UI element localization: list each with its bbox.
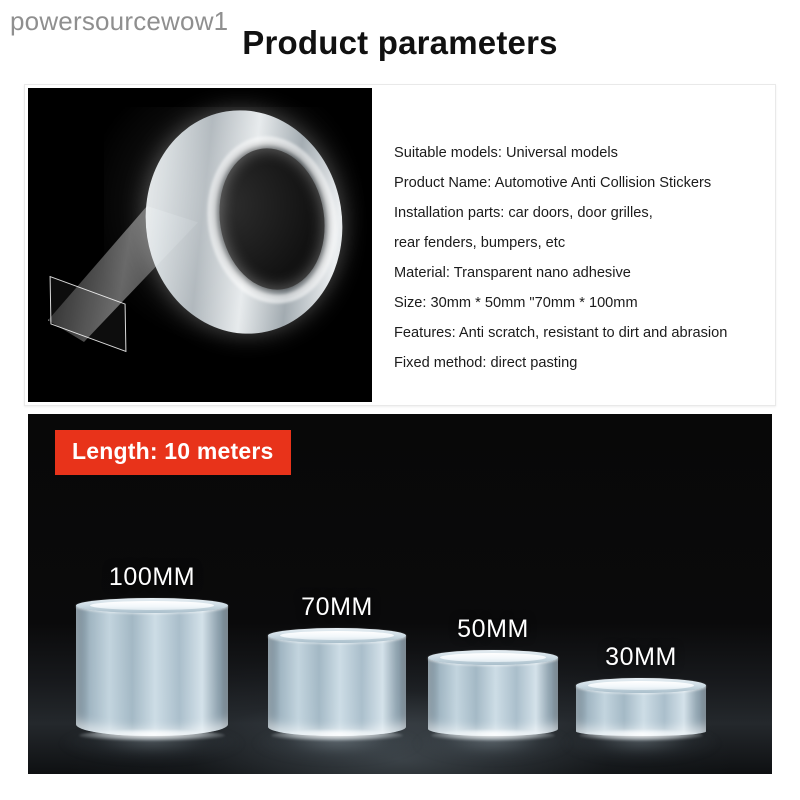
- product-parameters-panel: Suitable models: Universal models Produc…: [24, 84, 776, 406]
- product-detail-page: powersourcewow1 Product parameters Suita…: [0, 0, 800, 800]
- spec-line-installation-parts: Installation parts: car doors, door gril…: [394, 198, 766, 228]
- spec-line-fixed-method: Fixed method: direct pasting: [394, 348, 766, 378]
- tape-roll-illustration: [146, 110, 358, 340]
- roll-top-ellipse: [268, 628, 406, 643]
- roll-top-inner: [440, 653, 547, 662]
- roll-top-ellipse: [76, 598, 228, 613]
- roll-top-ellipse: [428, 650, 558, 665]
- roll-size-label-30mm: 30MM: [605, 643, 677, 672]
- roll-base-highlight: [79, 730, 225, 741]
- roll-body: [268, 635, 406, 736]
- roll-top-inner: [280, 631, 393, 640]
- spec-line-product-name: Product Name: Automotive Anti Collision …: [394, 168, 766, 198]
- roll-size-50mm: 50MM: [428, 650, 558, 736]
- roll-size-30mm: 30MM: [576, 678, 706, 736]
- spec-line-size: Size: 30mm * 50mm "70mm * 100mm: [394, 288, 766, 318]
- roll-body: [76, 605, 228, 736]
- spec-line-features: Features: Anti scratch, resistant to dir…: [394, 318, 766, 348]
- spec-list: Suitable models: Universal models Produc…: [372, 88, 772, 402]
- roll-cylinder: [76, 598, 228, 736]
- spec-line-installation-parts-cont: rear fenders, bumpers, etc: [394, 228, 766, 258]
- spec-line-material: Material: Transparent nano adhesive: [394, 258, 766, 288]
- roll-cylinder: [268, 628, 406, 736]
- roll-base-highlight: [271, 730, 404, 741]
- roll-body: [428, 657, 558, 736]
- roll-base-highlight: [579, 730, 704, 741]
- roll-size-label-50mm: 50MM: [457, 615, 529, 644]
- roll-cylinder: [576, 678, 706, 736]
- roll-size-100mm: 100MM: [76, 598, 228, 736]
- roll-size-70mm: 70MM: [268, 628, 406, 736]
- roll-base-highlight: [431, 730, 556, 741]
- seller-watermark: powersourcewow1: [10, 6, 228, 37]
- roll-top-ellipse: [576, 678, 706, 693]
- spec-line-suitable-models: Suitable models: Universal models: [394, 138, 766, 168]
- roll-top-inner: [588, 681, 695, 690]
- length-badge: Length: 10 meters: [55, 430, 291, 475]
- roll-size-label-100mm: 100MM: [109, 563, 195, 592]
- roll-cylinder: [428, 650, 558, 736]
- size-comparison-panel: Length: 10 meters 100MM 70MM: [28, 414, 772, 774]
- product-photo: [28, 88, 372, 402]
- roll-size-label-70mm: 70MM: [301, 593, 373, 622]
- roll-top-inner: [90, 601, 215, 610]
